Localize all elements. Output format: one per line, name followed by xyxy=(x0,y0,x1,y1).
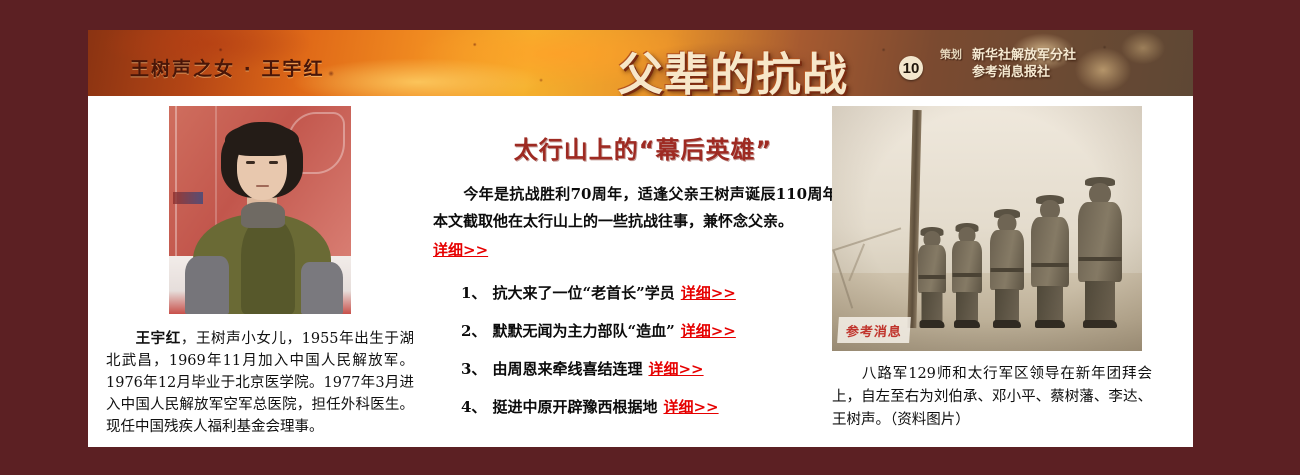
list-item: 4、 挺进中原开辟豫西根据地 详细>> xyxy=(461,396,853,417)
left-column: 王宇红，王树声小女儿，1955年出生于湖北武昌，1969年11月加入中国人民解放… xyxy=(90,106,430,438)
credit-line-1: 新华社解放军分社 xyxy=(972,47,1076,64)
article-lead-paragraph: 今年是抗战胜利70周年，适逢父亲王树声诞辰110周年，本文截取他在太行山上的一些… xyxy=(433,181,853,264)
list-item: 3、 由周恩来牵线喜结连理 详细>> xyxy=(461,358,853,379)
portrait-photo xyxy=(169,106,351,314)
caption-lead-name: 王宇红 xyxy=(135,330,181,347)
list-item-text: 挺进中原开辟豫西根据地 xyxy=(492,396,657,417)
list-item-detail-link[interactable]: 详细>> xyxy=(663,396,718,417)
page-root: 王树声之女 · 王宇红 父辈的抗战 10 策划 新华社解放军分社 参考消息报社 xyxy=(0,0,1300,475)
portrait-eye-left xyxy=(246,161,255,164)
portrait-sleeve-right xyxy=(301,262,343,314)
portrait-backdrop-tag xyxy=(173,192,203,204)
list-item-text: 由周恩来牵线喜结连理 xyxy=(492,358,642,379)
list-item-detail-link[interactable]: 详细>> xyxy=(681,320,736,341)
portrait-mouth xyxy=(256,185,269,187)
list-item: 2、 默默无闻为主力部队“造血” 详细>> xyxy=(461,320,853,341)
list-item: 1、 抗大来了一位“老首长”学员 详细>> xyxy=(461,282,853,303)
list-item-index: 1、 xyxy=(461,282,486,303)
portrait-eye-right xyxy=(269,161,278,164)
credit-line-2: 参考消息报社 xyxy=(972,64,1076,81)
lead-text: 今年是抗战胜利70周年，适逢父亲王树声诞辰110周年，本文截取他在太行山上的一些… xyxy=(433,185,853,230)
photo-caption-text: 八路军129师和太行军区领导在新年团拜会上，自左至右为刘伯承、邓小平、蔡树藩、李… xyxy=(832,366,1152,428)
photo-watermark-stamp: 参考消息 xyxy=(837,317,911,343)
banner-credit-block: 策划 新华社解放军分社 参考消息报社 xyxy=(938,47,1076,81)
article-column: 太行山上的“幕后英雄” 今年是抗战胜利70周年，适逢父亲王树声诞辰110周年，本… xyxy=(433,130,853,434)
portrait-sleeve-left xyxy=(185,256,229,314)
right-column: 参考消息 八路军129师和太行军区领导在新年团拜会上，自左至右为刘伯承、邓小平、… xyxy=(832,106,1162,432)
portrait-vest-shadow xyxy=(241,218,295,314)
lead-detail-link[interactable]: 详细>> xyxy=(433,237,853,264)
list-item-detail-link[interactable]: 详细>> xyxy=(681,282,736,303)
article-title: 太行山上的“幕后英雄” xyxy=(433,130,853,165)
list-item-index: 3、 xyxy=(461,358,486,379)
list-item-detail-link[interactable]: 详细>> xyxy=(648,358,703,379)
list-item-index: 2、 xyxy=(461,320,486,341)
list-item-index: 4、 xyxy=(461,396,486,417)
content-panel: 王树声之女 · 王宇红 父辈的抗战 10 策划 新华社解放军分社 参考消息报社 xyxy=(88,30,1193,447)
historical-photo-caption: 八路军129师和太行军区领导在新年团拜会上，自左至右为刘伯承、邓小平、蔡树藩、李… xyxy=(832,363,1152,432)
historical-photo: 参考消息 xyxy=(832,106,1142,351)
list-item-text: 默默无闻为主力部队“造血” xyxy=(492,320,674,341)
portrait-collar xyxy=(241,202,285,228)
series-banner: 王树声之女 · 王宇红 父辈的抗战 10 策划 新华社解放军分社 参考消息报社 xyxy=(88,30,1193,96)
credit-lines: 新华社解放军分社 参考消息报社 xyxy=(972,47,1076,81)
article-item-list: 1、 抗大来了一位“老首长”学员 详细>> 2、 默默无闻为主力部队“造血” 详… xyxy=(433,282,853,417)
issue-number-badge: 10 xyxy=(899,56,923,80)
photo-vignette xyxy=(832,106,1142,351)
content-area: 王宇红，王树声小女儿，1955年出生于湖北武昌，1969年11月加入中国人民解放… xyxy=(88,96,1193,447)
portrait-caption: 王宇红，王树声小女儿，1955年出生于湖北武昌，1969年11月加入中国人民解放… xyxy=(90,328,430,438)
banner-subject-line: 王树声之女 · 王宇红 xyxy=(130,54,324,81)
portrait-hair-fringe xyxy=(225,124,299,156)
portrait-backdrop-stripe xyxy=(175,106,177,256)
list-item-text: 抗大来了一位“老首长”学员 xyxy=(492,282,674,303)
series-title: 父辈的抗战 xyxy=(618,38,848,96)
planner-seal-icon: 策划 xyxy=(938,47,964,81)
